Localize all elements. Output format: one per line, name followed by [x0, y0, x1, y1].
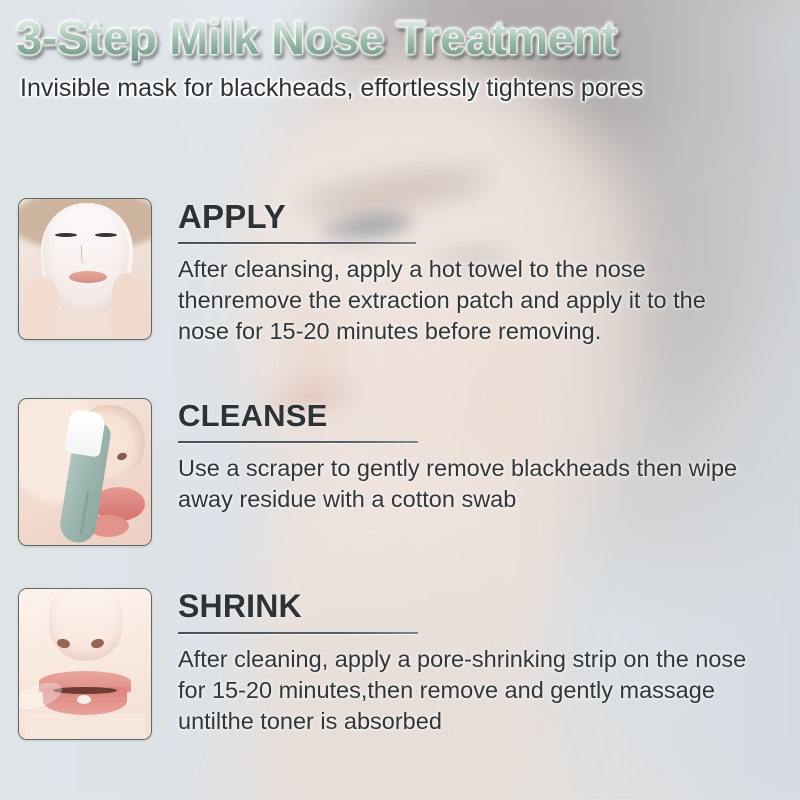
step-divider: [178, 242, 416, 244]
step-body-shrink: SHRINK After cleaning, apply a pore-shri…: [178, 588, 782, 738]
step-description: Use a scraper to gently remove blackhead…: [178, 453, 758, 516]
step-item-cleanse: CLEANSE Use a scraper to gently remove b…: [18, 398, 782, 546]
step-heading: CLEANSE: [178, 400, 782, 433]
step-description: After cleaning, apply a pore-shrinking s…: [178, 644, 758, 738]
page-subtitle: Invisible mask for blackheads, effortles…: [20, 74, 788, 103]
step-body-cleanse: CLEANSE Use a scraper to gently remove b…: [178, 398, 782, 515]
step-divider: [178, 632, 418, 634]
step-thumbnail-shrink: [18, 588, 152, 740]
step-thumbnail-cleanse: [18, 398, 152, 546]
step-divider: [178, 441, 418, 443]
nose-and-lips-illustration: [19, 589, 151, 739]
step-item-apply: APPLY After cleansing, apply a hot towel…: [18, 198, 782, 348]
step-body-apply: APPLY After cleansing, apply a hot towel…: [178, 198, 782, 348]
product-infographic-poster: 3-Step Milk Nose Treatment Invisible mas…: [0, 0, 800, 800]
scraper-tool-illustration: [19, 399, 151, 545]
step-heading: SHRINK: [178, 590, 782, 624]
step-heading: APPLY: [178, 200, 782, 235]
step-description: After cleansing, apply a hot towel to th…: [178, 254, 758, 348]
step-item-shrink: SHRINK After cleaning, apply a pore-shri…: [18, 588, 782, 740]
sheet-mask-face-illustration: [19, 199, 151, 339]
step-thumbnail-apply: [18, 198, 152, 340]
page-title: 3-Step Milk Nose Treatment: [16, 14, 784, 61]
